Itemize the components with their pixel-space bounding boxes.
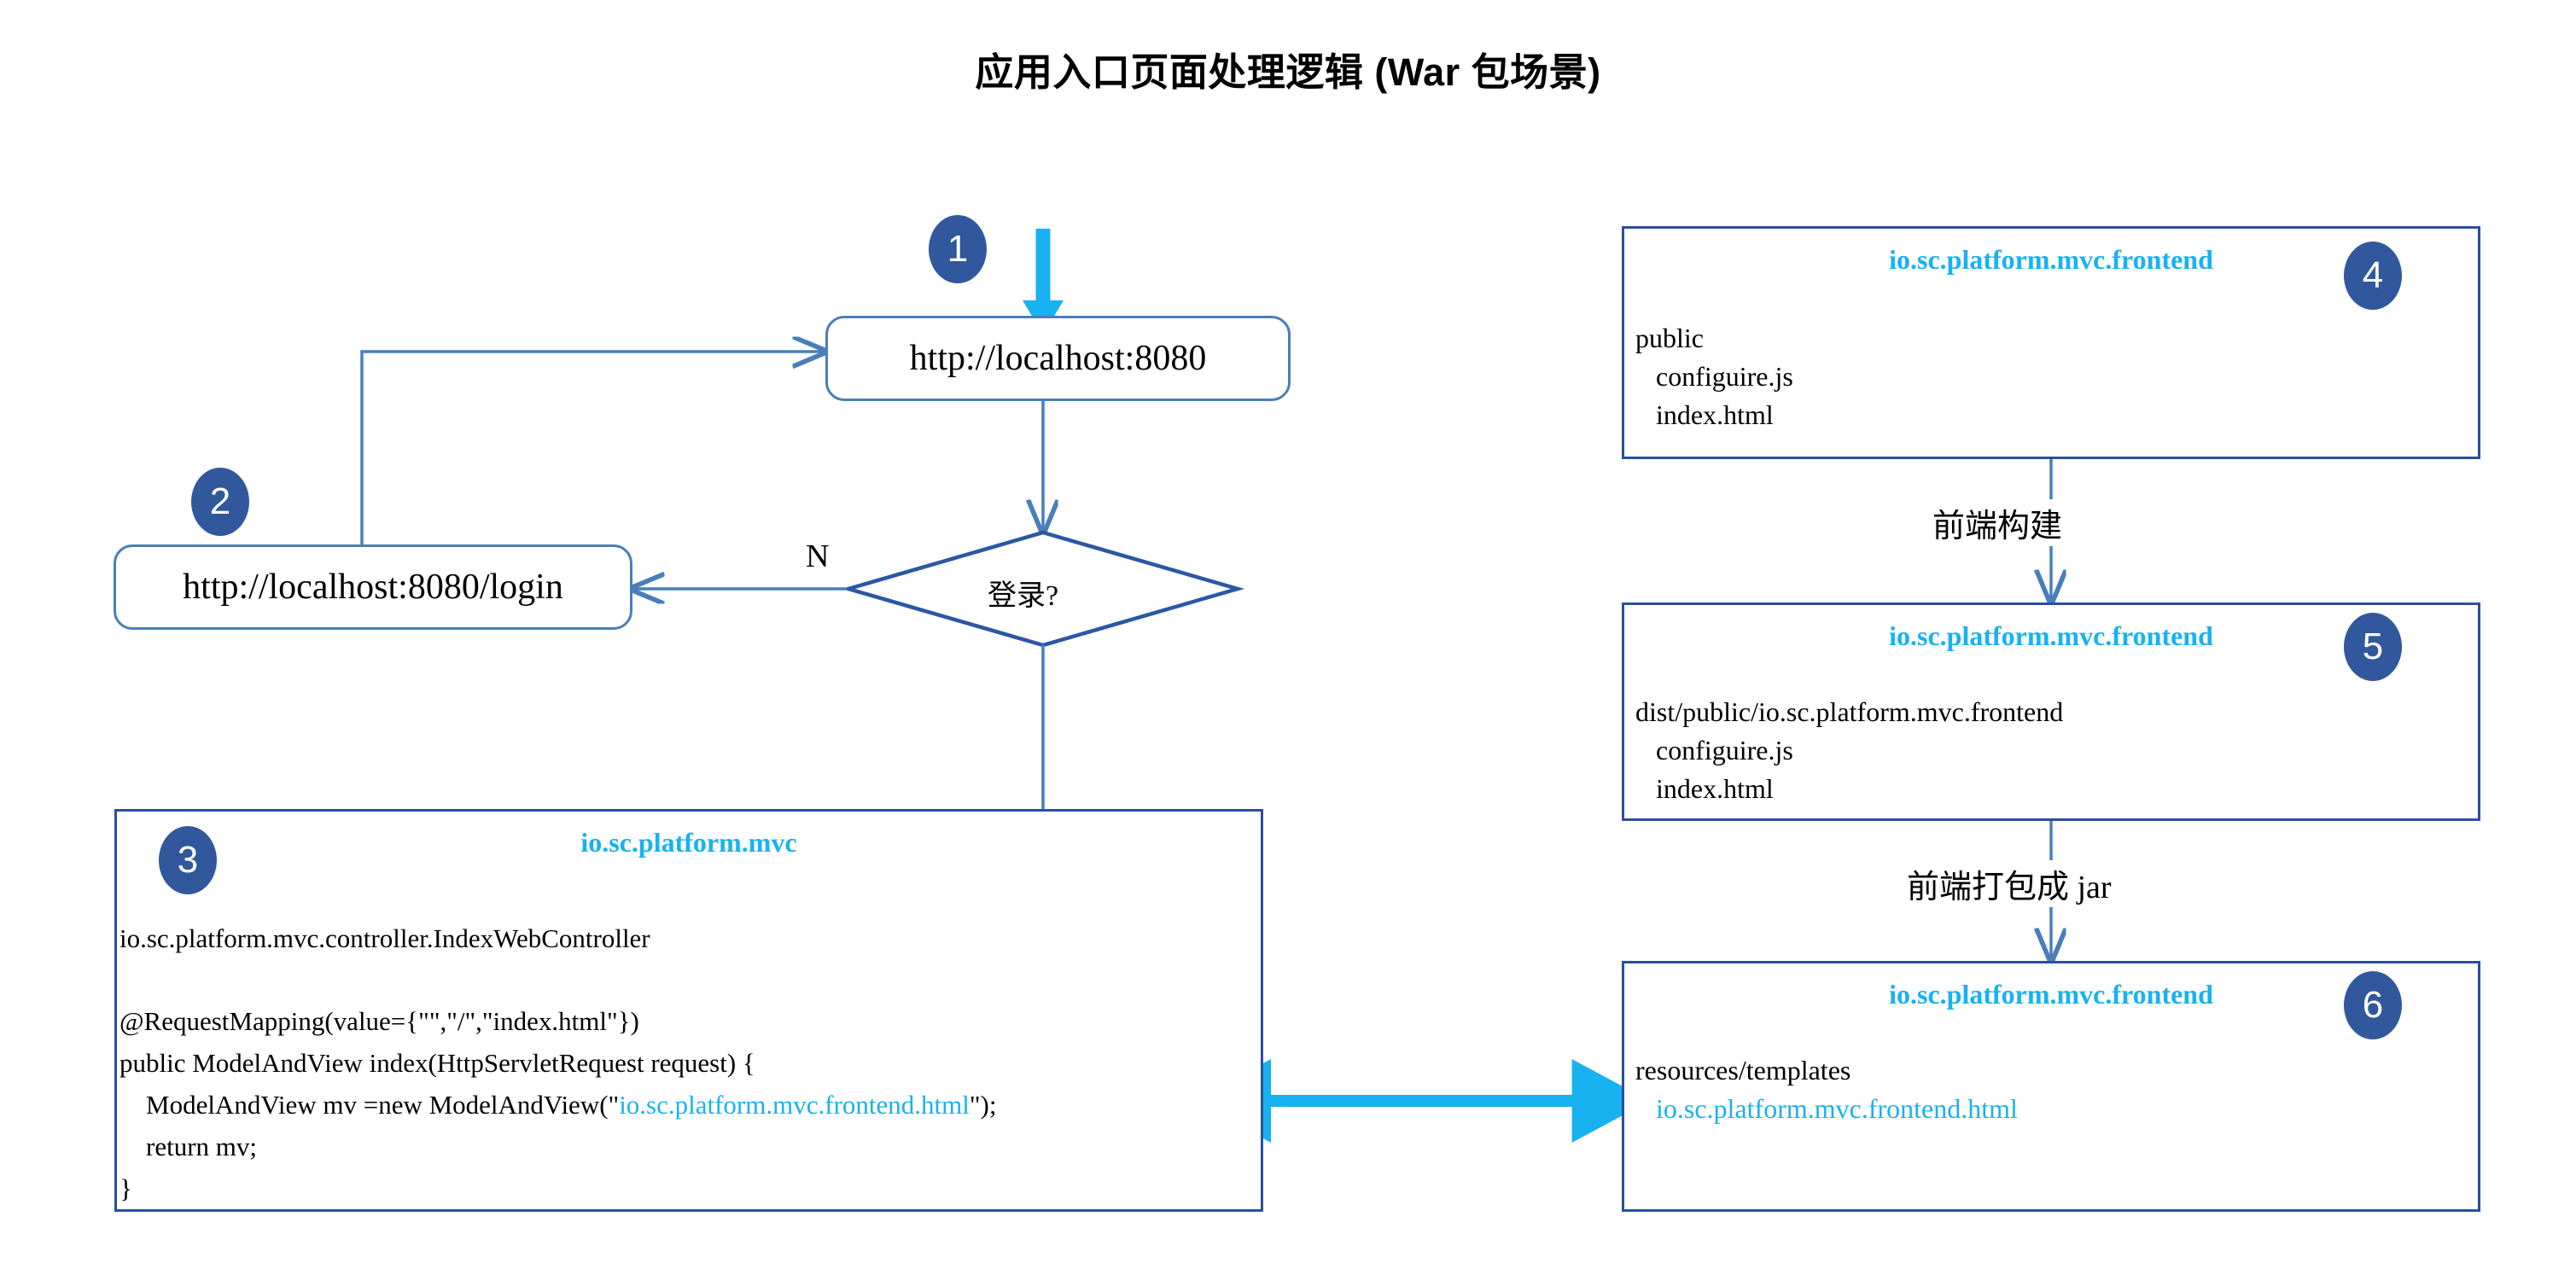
controller-class-line: io.sc.platform.mvc.controller.IndexWebCo… bbox=[119, 920, 650, 958]
node-url-root-label: http://localhost:8080 bbox=[910, 338, 1207, 379]
edge-login-back-to-node1 bbox=[362, 352, 825, 544]
badge-3: 3 bbox=[159, 826, 217, 894]
panel-frontend-jar-line-1: resources/templates bbox=[1635, 1051, 1850, 1090]
panel-frontend-dist-line-2: configuire.js bbox=[1635, 731, 1793, 770]
page-title: 应用入口页面处理逻辑 (War 包场景) bbox=[0, 41, 2576, 96]
badge-4: 4 bbox=[2344, 242, 2402, 310]
panel-frontend-dist-line-3: index.html bbox=[1635, 770, 1774, 808]
controller-code-line-4: return mv; bbox=[119, 1128, 257, 1167]
node-url-root[interactable]: http://localhost:8080 bbox=[825, 316, 1291, 401]
controller-view-name: io.sc.platform.mvc.frontend.html bbox=[619, 1090, 970, 1120]
decision-label: 登录? bbox=[988, 572, 1058, 614]
panel-frontend-source-line-3: index.html bbox=[1635, 396, 1774, 434]
diagram-canvas: 应用入口页面处理逻辑 (War 包场景) bbox=[0, 0, 2576, 1263]
node-url-login-label: http://localhost:8080/login bbox=[183, 567, 563, 608]
badge-2: 2 bbox=[191, 468, 249, 536]
controller-code-line-2: public ModelAndView index(HttpServletReq… bbox=[119, 1045, 755, 1083]
panel-frontend-source-line-1: public bbox=[1635, 319, 1704, 358]
controller-code-line-1: @RequestMapping(value={"","/","index.htm… bbox=[119, 1003, 639, 1041]
node-url-login[interactable]: http://localhost:8080/login bbox=[114, 544, 632, 630]
panel-frontend-dist-line-1: dist/public/io.sc.platform.mvc.frontend bbox=[1635, 693, 2063, 731]
badge-6: 6 bbox=[2344, 971, 2402, 1039]
build-step-label-2: 前端打包成 jar bbox=[1902, 860, 2117, 907]
badge-1: 1 bbox=[929, 215, 987, 283]
panel-frontend-source-line-2: configuire.js bbox=[1635, 358, 1793, 396]
controller-code-line-3-suffix: "); bbox=[970, 1090, 997, 1120]
edge-label-no: N bbox=[806, 538, 829, 575]
build-step-label-1: 前端构建 bbox=[1927, 499, 2067, 546]
controller-code-line-5: } bbox=[119, 1170, 132, 1208]
panel-frontend-jar-template-file: io.sc.platform.mvc.frontend.html bbox=[1635, 1090, 2018, 1128]
controller-code-line-3: ModelAndView mv =new ModelAndView("io.sc… bbox=[119, 1086, 996, 1125]
controller-code-line-3-prefix: ModelAndView mv =new ModelAndView(" bbox=[119, 1090, 619, 1120]
badge-5: 5 bbox=[2344, 613, 2402, 681]
panel-controller-header: io.sc.platform.mvc bbox=[117, 827, 1261, 858]
